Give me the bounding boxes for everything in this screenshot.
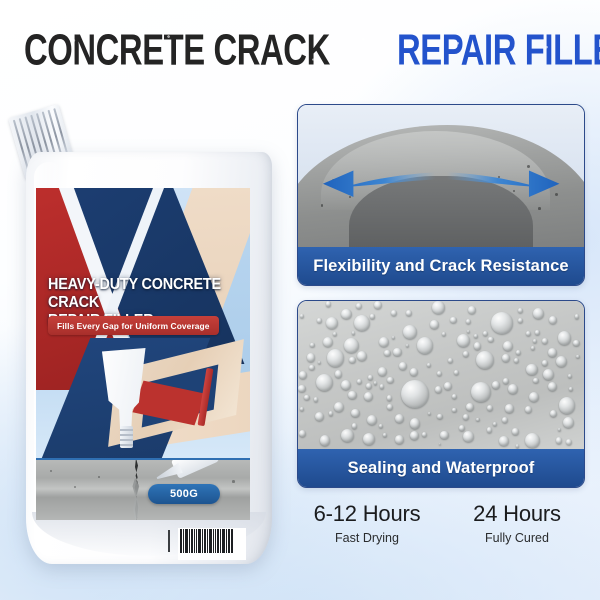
water-droplet xyxy=(448,358,453,363)
water-droplet xyxy=(401,380,429,408)
weight-badge-text: 500G xyxy=(170,488,198,500)
water-droplet xyxy=(533,308,544,319)
water-droplet xyxy=(573,340,579,346)
water-droplet xyxy=(493,422,497,426)
water-droplet xyxy=(417,337,433,353)
product-pouch: HEAVY-DUTY CONCRETE CRACK REPAIR FILLER … xyxy=(10,108,280,568)
water-droplet xyxy=(502,354,510,362)
water-droplet xyxy=(471,382,491,402)
stat-fast-drying: 6-12 Hours Fast Drying xyxy=(292,500,442,562)
page-title-part-one: CONCRETE CRACK xyxy=(24,27,330,73)
water-droplet xyxy=(403,325,417,339)
water-droplet xyxy=(508,384,518,394)
water-droplet xyxy=(526,331,531,336)
water-droplet xyxy=(483,331,488,336)
water-droplet xyxy=(352,423,357,428)
page-title: CONCRETE CRACK REPAIR FILLER xyxy=(24,26,580,74)
product-label: HEAVY-DUTY CONCRETE CRACK REPAIR FILLER … xyxy=(36,188,250,458)
water-droplet xyxy=(326,317,338,329)
water-droplet xyxy=(531,346,535,350)
waterproof-caption-text: Sealing and Waterproof xyxy=(348,459,535,478)
water-droplet xyxy=(368,375,372,379)
water-droplet xyxy=(488,337,494,343)
page-title-part-two: REPAIR FILLER xyxy=(397,27,600,73)
water-droplet xyxy=(383,433,387,437)
stat-fast-drying-value: 6-12 Hours xyxy=(292,500,442,528)
water-droplet xyxy=(512,428,518,434)
water-droplet xyxy=(298,385,305,392)
water-droplet xyxy=(378,367,387,376)
stats-row: 6-12 Hours Fast Drying 24 Hours Fully Cu… xyxy=(292,500,592,562)
stat-fully-cured-label: Fully Cured xyxy=(442,528,592,548)
applied-sealant xyxy=(128,478,144,520)
water-droplet xyxy=(320,435,331,446)
flexibility-image xyxy=(298,105,584,247)
label-title-line-1: HEAVY-DUTY CONCRETE CRACK xyxy=(48,276,230,312)
water-droplet xyxy=(558,331,572,345)
water-droplet xyxy=(410,418,420,428)
water-droplet xyxy=(533,378,539,384)
water-droplet xyxy=(514,358,519,363)
water-droplet xyxy=(380,384,384,388)
water-droplet xyxy=(463,414,469,420)
water-droplet xyxy=(454,370,459,375)
water-droplet xyxy=(335,370,343,378)
stat-fully-cured-value: 24 Hours xyxy=(442,500,592,528)
water-droplet xyxy=(333,332,337,336)
water-droplet xyxy=(370,314,374,318)
flexibility-caption-bar: Flexibility and Crack Resistance xyxy=(298,247,584,285)
water-droplet xyxy=(304,395,309,400)
water-droplet xyxy=(392,336,395,339)
water-droplet xyxy=(444,382,452,390)
water-droplet xyxy=(326,301,331,306)
water-droplet xyxy=(505,404,513,412)
product-ad-canvas: CONCRETE CRACK REPAIR FILLER xyxy=(0,0,600,600)
water-droplet xyxy=(518,308,523,313)
water-droplet xyxy=(395,435,404,444)
water-droplet xyxy=(315,412,324,421)
water-droplet xyxy=(525,433,540,448)
water-droplet xyxy=(391,310,397,316)
water-droplet xyxy=(349,357,355,363)
water-droplet xyxy=(299,371,307,379)
barcode-separator xyxy=(168,530,170,552)
water-droplet xyxy=(406,310,412,316)
feature-panel-flexibility: Flexibility and Crack Resistance xyxy=(297,104,585,286)
water-droplet xyxy=(356,303,362,309)
water-droplet xyxy=(327,349,345,367)
water-droplet xyxy=(430,320,438,328)
stat-fast-drying-label: Fast Drying xyxy=(292,528,442,548)
feature-panel-waterproof: Sealing and Waterproof xyxy=(297,300,585,488)
water-droplet xyxy=(341,380,351,390)
water-droplet xyxy=(437,414,443,420)
waterproof-image xyxy=(298,301,584,449)
label-tagline-banner: Fills Every Gap for Uniform Coverage xyxy=(48,316,219,335)
water-droplet xyxy=(366,383,372,389)
waterproof-caption-bar: Sealing and Waterproof xyxy=(298,449,584,487)
water-droplet xyxy=(334,402,344,412)
water-droplet xyxy=(379,337,389,347)
water-droplet xyxy=(387,377,393,383)
water-droplet xyxy=(463,431,474,442)
water-droplet xyxy=(550,410,557,417)
water-droplet xyxy=(316,374,333,391)
water-droplet xyxy=(387,395,393,401)
water-droplet xyxy=(459,425,465,431)
water-droplet xyxy=(535,330,540,335)
water-droplet xyxy=(476,351,494,369)
stat-fully-cured: 24 Hours Fully Cured xyxy=(442,500,592,562)
water-droplet xyxy=(452,408,457,413)
water-droplet xyxy=(374,381,377,384)
water-droplet xyxy=(499,436,509,446)
water-droplet xyxy=(348,391,356,399)
water-droplet xyxy=(491,312,513,334)
water-droplet xyxy=(556,437,562,443)
water-droplet xyxy=(516,444,519,447)
water-droplet xyxy=(563,417,574,428)
water-droplet xyxy=(468,306,476,314)
water-droplet xyxy=(399,362,407,370)
water-droplet xyxy=(503,341,513,351)
water-droplet xyxy=(575,314,579,318)
label-applicator-illustration xyxy=(98,338,250,458)
water-droplet xyxy=(474,342,481,349)
water-droplet xyxy=(548,348,557,357)
water-droplet xyxy=(450,317,456,323)
water-droplet xyxy=(329,411,333,415)
water-droplet xyxy=(317,318,321,322)
stretch-arrow-left-icon xyxy=(321,167,435,197)
weight-badge: 500G xyxy=(148,484,220,504)
water-droplet xyxy=(576,355,579,358)
stretch-arrow-right-icon xyxy=(447,167,561,197)
water-droplet xyxy=(542,360,548,366)
water-droplet xyxy=(432,301,445,314)
barcode xyxy=(178,528,246,560)
water-droplet xyxy=(466,403,474,411)
water-droplet xyxy=(387,404,393,410)
label-tagline-text: Fills Every Gap for Uniform Coverage xyxy=(57,321,210,331)
flexibility-caption-text: Flexibility and Crack Resistance xyxy=(313,257,568,276)
